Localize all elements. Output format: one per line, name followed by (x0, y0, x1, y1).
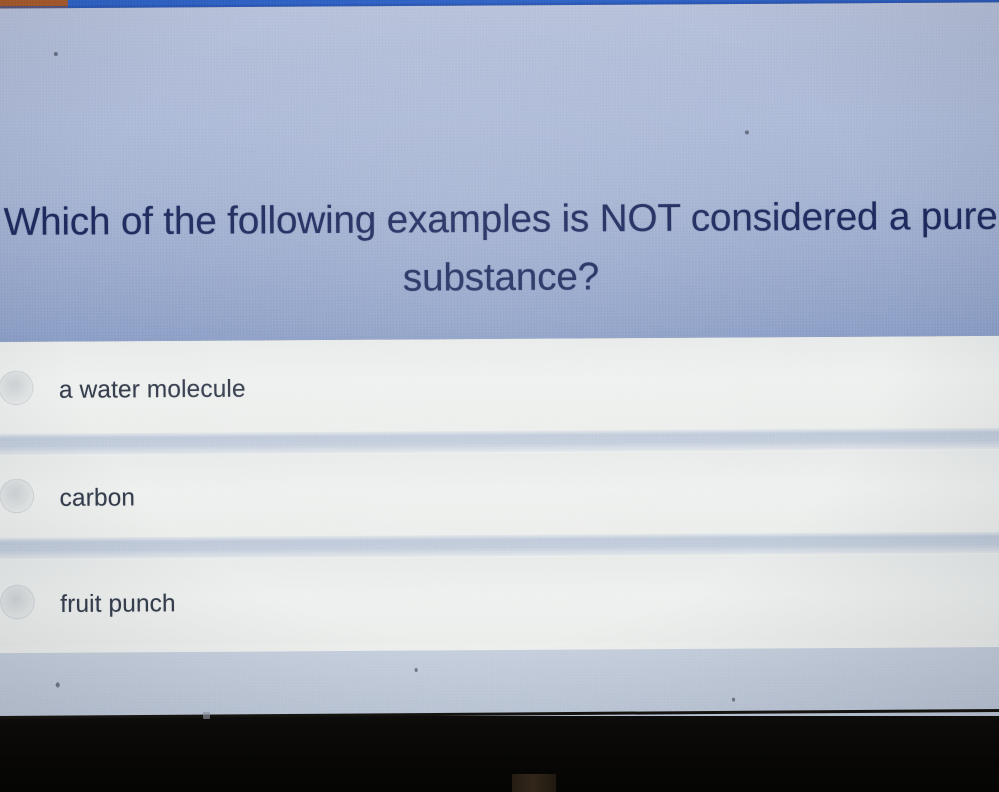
option-label-a-water-molecule: a water molecule (59, 375, 246, 405)
screen-dust-speck (732, 698, 735, 702)
screen-dust-speck (745, 130, 749, 134)
option-label-fruit-punch: fruit punch (60, 590, 176, 619)
answer-options-list: a water molecule carbon fruit punch (0, 336, 999, 736)
screenshot-root: Which of the following examples is NOT c… (0, 0, 999, 792)
screen-dust-speck (415, 668, 418, 672)
bezel-speck (203, 712, 210, 719)
option-row-carbon[interactable]: carbon (0, 450, 999, 538)
option-label-carbon: carbon (60, 484, 136, 513)
question-text: Which of the following examples is NOT c… (0, 188, 999, 311)
screen-dust-speck (54, 52, 58, 56)
option-row-a-water-molecule[interactable]: a water molecule (0, 336, 999, 434)
monitor-screen-panel: Which of the following examples is NOT c… (0, 0, 999, 736)
monitor-bezel (0, 716, 999, 792)
question-header-band: Which of the following examples is NOT c… (0, 2, 999, 342)
radio-a-water-molecule[interactable] (0, 370, 34, 405)
screen-dust-speck (56, 682, 60, 687)
option-row-fruit-punch[interactable]: fruit punch (0, 554, 999, 646)
radio-carbon[interactable] (0, 478, 34, 513)
bezel-reflection-object (512, 774, 556, 792)
radio-fruit-punch[interactable] (0, 585, 35, 620)
